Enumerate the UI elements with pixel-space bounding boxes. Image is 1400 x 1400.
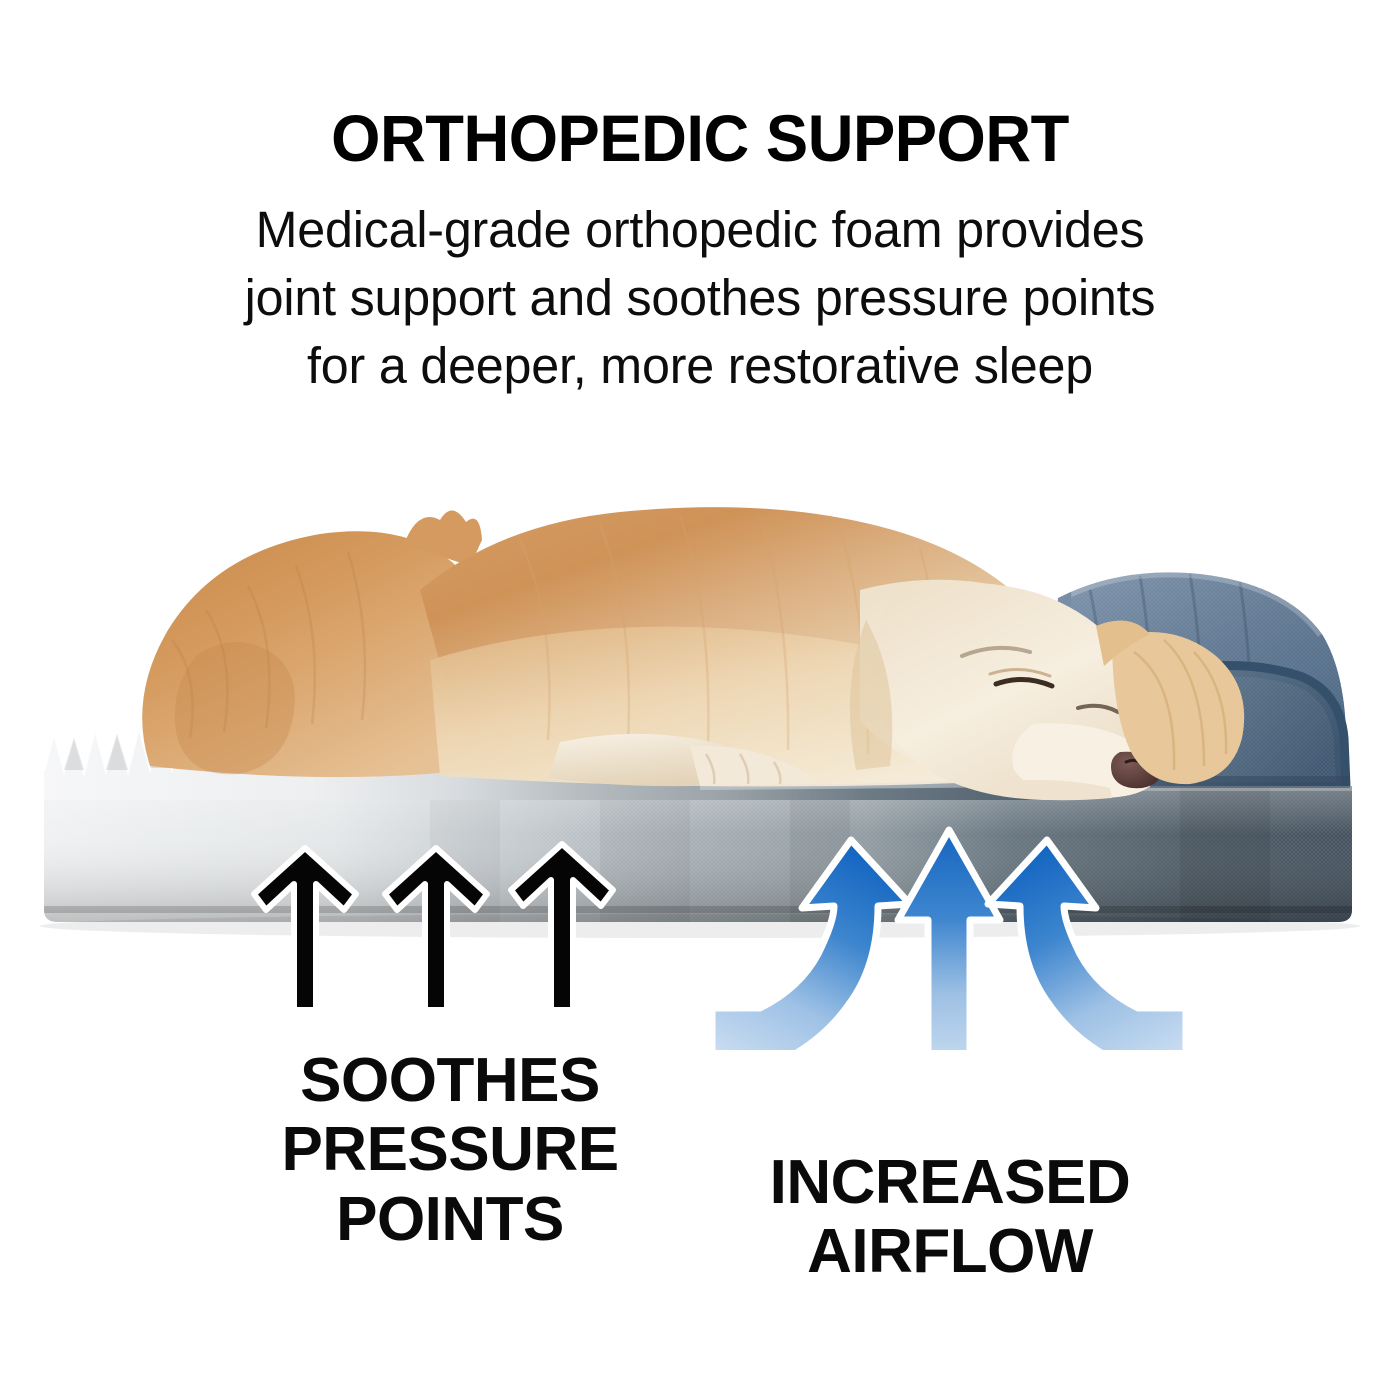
callout-line-2: AIRFLOW <box>700 1217 1200 1286</box>
subtitle-line-1: Medical-grade orthopedic foam provides <box>11 196 1390 264</box>
callout-increased-airflow: INCREASED AIRFLOW <box>700 1148 1200 1287</box>
infographic-canvas: ORTHOPEDIC SUPPORT Medical-grade orthope… <box>0 0 1400 1400</box>
sleeping-dog <box>142 507 1244 800</box>
subtitle-line-3: for a deeper, more restorative sleep <box>11 332 1390 400</box>
page-title: ORTHOPEDIC SUPPORT <box>28 104 1372 173</box>
subtitle-line-2: joint support and soothes pressure point… <box>11 264 1390 332</box>
subtitle-block: Medical-grade orthopedic foam provides j… <box>11 196 1390 399</box>
callout-soothes-pressure-points: SOOTHES PRESSURE POINTS <box>180 1046 720 1254</box>
callout-line-2: PRESSURE <box>180 1115 720 1184</box>
product-photo <box>0 470 1400 970</box>
callout-line-3: POINTS <box>180 1185 720 1254</box>
callout-line-1: INCREASED <box>700 1148 1200 1217</box>
callout-line-1: SOOTHES <box>180 1046 720 1115</box>
